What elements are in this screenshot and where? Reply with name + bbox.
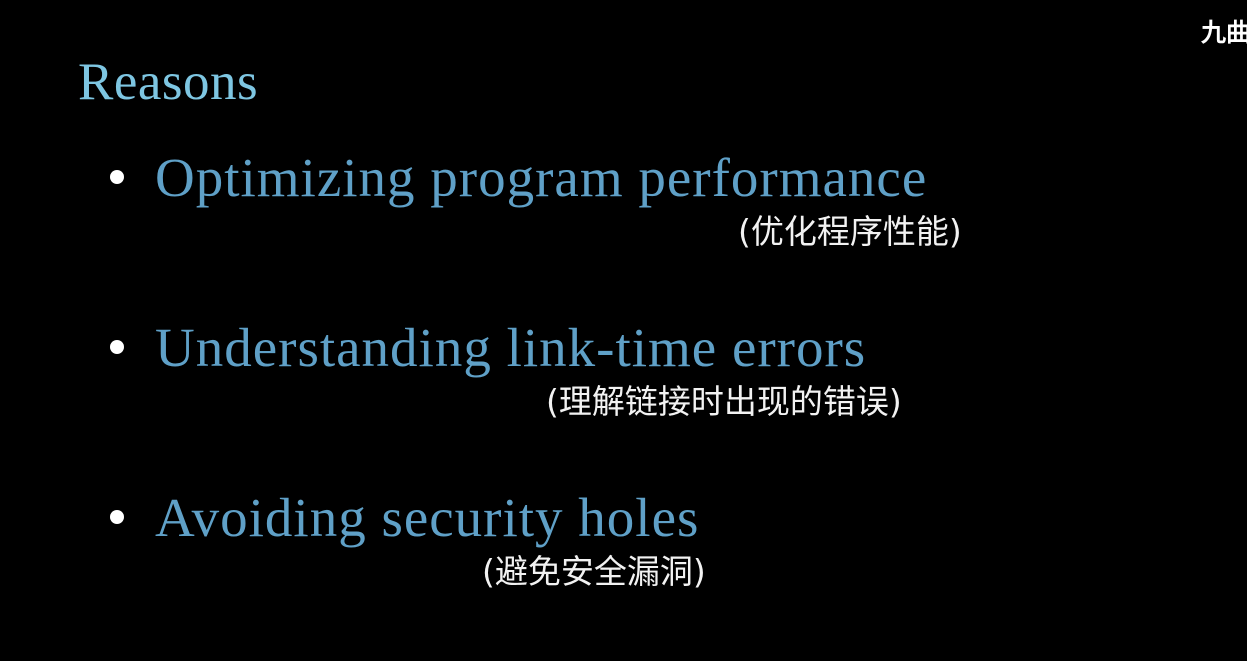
bullet-point-icon <box>110 170 124 184</box>
bullet-translation: (理解链接时出现的错误) <box>546 385 902 418</box>
bullet-translation: (避免安全漏洞) <box>482 555 706 588</box>
bullet-row: Avoiding security holes <box>110 490 699 545</box>
bullet-translation: (优化程序性能) <box>738 215 962 248</box>
corner-watermark: 九曲 <box>1201 20 1247 45</box>
bullet-label: Avoiding security holes <box>155 490 699 545</box>
bullet-list: Optimizing program performance (优化程序性能) … <box>0 150 1247 660</box>
list-item: Avoiding security holes (避免安全漏洞) <box>0 490 1247 660</box>
bullet-label: Understanding link-time errors <box>155 320 866 375</box>
bullet-row: Understanding link-time errors <box>110 320 866 375</box>
list-item: Understanding link-time errors (理解链接时出现的… <box>0 320 1247 490</box>
bullet-point-icon <box>110 340 124 354</box>
bullet-row: Optimizing program performance <box>110 150 927 205</box>
bullet-label: Optimizing program performance <box>155 150 927 205</box>
bullet-point-icon <box>110 510 124 524</box>
list-item: Optimizing program performance (优化程序性能) <box>0 150 1247 320</box>
slide-canvas: 九曲 Reasons Optimizing program performanc… <box>0 0 1247 661</box>
page-title: Reasons <box>78 56 258 109</box>
